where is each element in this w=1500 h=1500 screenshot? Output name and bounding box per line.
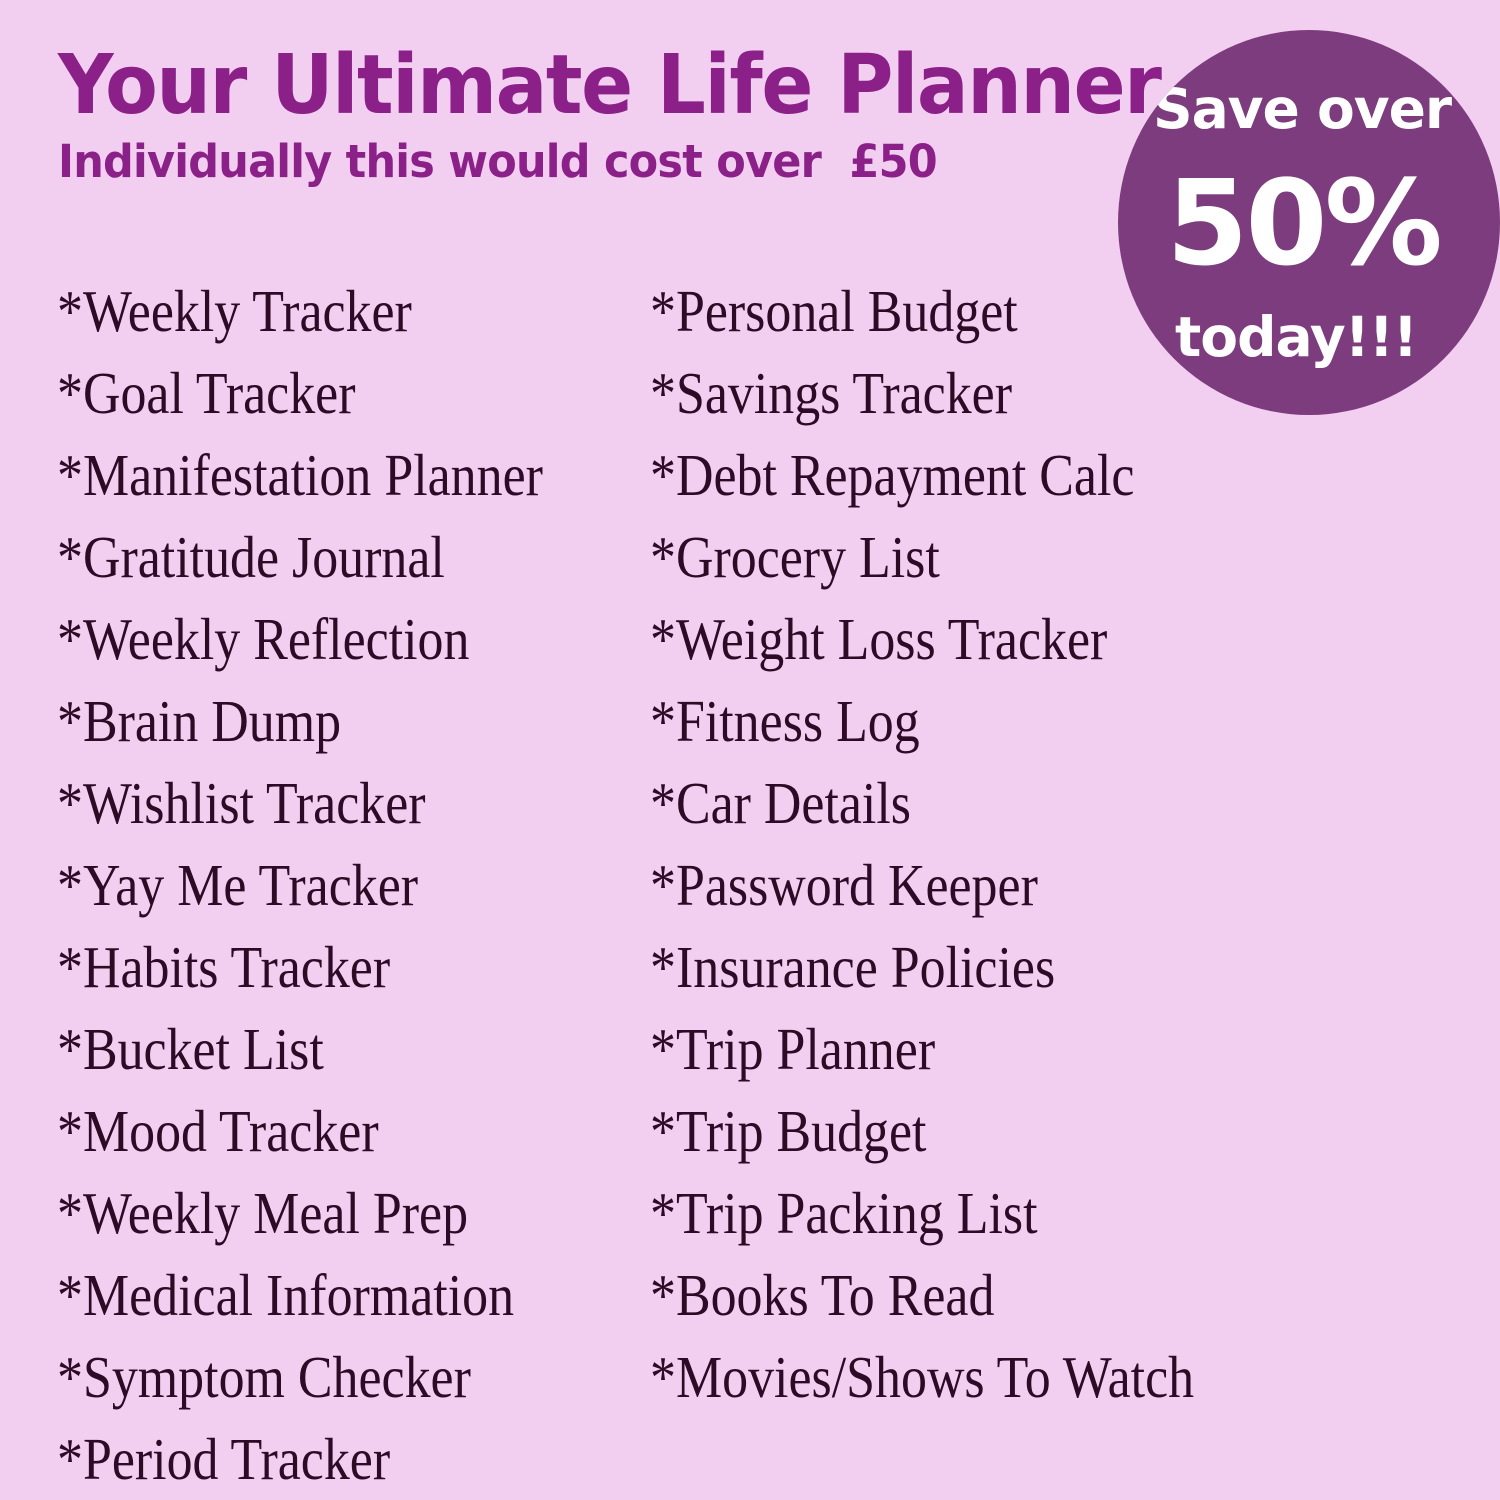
feature-list-item: *Personal Budget: [650, 270, 1266, 352]
feature-list-item: *Trip Packing List: [650, 1172, 1266, 1254]
feature-list-item: *Brain Dump: [57, 680, 585, 762]
feature-list-item: *Weekly Meal Prep: [57, 1172, 585, 1254]
poster-header: Your Ultimate Life Planner Individually …: [58, 44, 1148, 185]
feature-list-item: *Period Tracker: [57, 1418, 585, 1500]
feature-list-item: *Goal Tracker: [57, 352, 585, 434]
feature-list-item: *Trip Budget: [650, 1090, 1266, 1172]
feature-list-item: *Weekly Reflection: [57, 598, 585, 680]
poster-subtitle: Individually this would cost over £50: [58, 138, 1099, 185]
feature-list-item: *Savings Tracker: [650, 352, 1266, 434]
feature-list-item: *Books To Read: [650, 1254, 1266, 1336]
feature-list-item: *Mood Tracker: [57, 1090, 585, 1172]
feature-list-item: *Debt Repayment Calc: [650, 434, 1266, 516]
feature-list-item: *Symptom Checker: [57, 1336, 585, 1418]
feature-list-item: *Password Keeper: [650, 844, 1266, 926]
feature-list-item: *Grocery List: [650, 516, 1266, 598]
feature-list-item: *Weekly Tracker: [57, 270, 585, 352]
feature-list-right: *Personal Budget*Savings Tracker*Debt Re…: [650, 270, 1350, 1418]
life-planner-promo-poster: Your Ultimate Life Planner Individually …: [0, 0, 1500, 1500]
feature-list-item: *Fitness Log: [650, 680, 1266, 762]
feature-list-item: *Trip Planner: [650, 1008, 1266, 1090]
badge-discount-percent: 50%: [1118, 161, 1500, 286]
feature-list-item: *Habits Tracker: [57, 926, 585, 1008]
feature-list-item: *Bucket List: [57, 1008, 585, 1090]
feature-list-item: *Gratitude Journal: [57, 516, 585, 598]
badge-save-over-label: Save over: [1118, 82, 1500, 137]
feature-list-item: *Insurance Policies: [650, 926, 1266, 1008]
feature-list-item: *Movies/Shows To Watch: [650, 1336, 1266, 1418]
feature-list-left: *Weekly Tracker*Goal Tracker*Manifestati…: [57, 270, 657, 1500]
feature-list-item: *Yay Me Tracker: [57, 844, 585, 926]
feature-list-item: *Medical Information: [57, 1254, 585, 1336]
page-title: Your Ultimate Life Planner: [58, 44, 1077, 128]
feature-list-item: *Car Details: [650, 762, 1266, 844]
feature-list-item: *Manifestation Planner: [57, 434, 585, 516]
feature-list-item: *Weight Loss Tracker: [650, 598, 1266, 680]
feature-list-item: *Wishlist Tracker: [57, 762, 585, 844]
